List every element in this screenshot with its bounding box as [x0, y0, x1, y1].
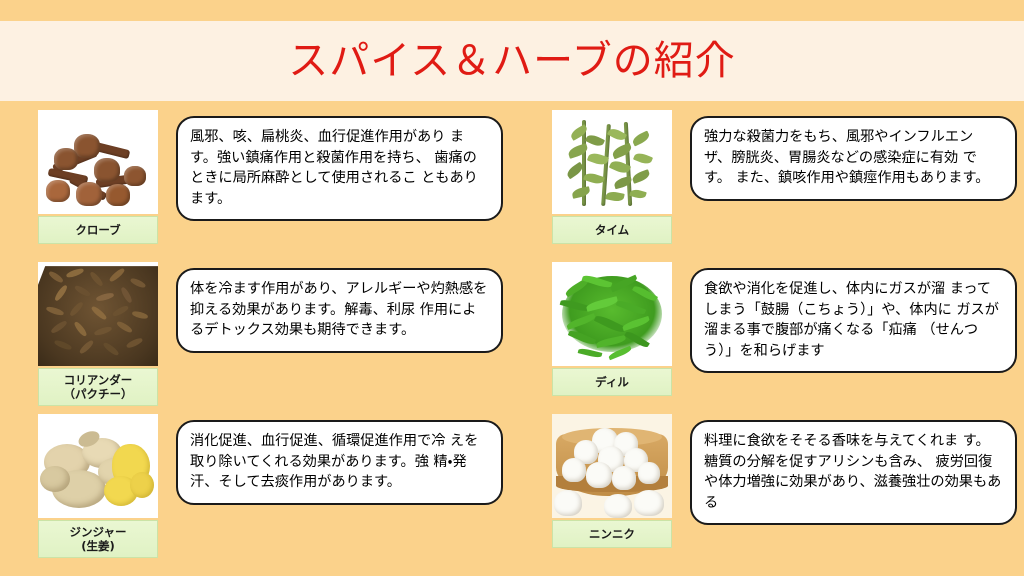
spice-card-thyme: タイム 強力な殺菌力をもち、風邪やインフルエン ザ、膀胱炎、胃腸炎などの感染症に… [514, 110, 1024, 262]
spice-card-garlic: ニンニク 料理に食欲をそそる香味を与えてくれま す。糖質の分解を促すアリシンも含… [514, 414, 1024, 566]
coriander-photo [38, 262, 158, 366]
spice-card-ginger: ジンジャー (生姜) 消化促進、血行促進、循環促進作用で冷 えを取り除いてくれる… [0, 414, 510, 566]
spice-label-garlic: ニンニク [552, 520, 672, 548]
spice-label-line1: タイム [595, 223, 629, 237]
spice-label-line1: クローブ [75, 223, 120, 237]
ginger-photo [38, 414, 158, 518]
spice-label-line2: （パクチー） [64, 387, 133, 401]
spice-label-clove: クローブ [38, 216, 158, 244]
spice-label-line2: (生姜) [81, 539, 115, 553]
spice-label-coriander: コリアンダー （パクチー） [38, 368, 158, 406]
spice-media: ディル [552, 262, 672, 396]
spice-card-clove: クローブ 風邪、咳、扁桃炎、血行促進作用があり ます。強い鎮痛作用と殺菌作用を持… [0, 110, 510, 262]
spice-media: ニンニク [552, 414, 672, 548]
title-band: スパイス＆ハーブの紹介 [0, 21, 1024, 101]
spice-media: コリアンダー （パクチー） [38, 262, 158, 406]
spice-label-ginger: ジンジャー (生姜) [38, 520, 158, 558]
spice-label-line1: ニンニク [589, 527, 635, 541]
spice-media: タイム [552, 110, 672, 244]
spice-description-ginger: 消化促進、血行促進、循環促進作用で冷 えを取り除いてくれる効果があります。強 精… [176, 420, 503, 505]
page-title: スパイス＆ハーブの紹介 [288, 41, 735, 81]
spice-description-dill: 食欲や消化を促進し、体内にガスが溜 まってしまう「鼓腸（こちょう）」や、体内に … [690, 268, 1017, 373]
spice-card-dill: ディル 食欲や消化を促進し、体内にガスが溜 まってしまう「鼓腸（こちょう）」や、… [514, 262, 1024, 414]
spice-card-coriander: コリアンダー （パクチー） 体を冷ます作用があり、アレルギーや灼熱感を抑える効果… [0, 262, 510, 414]
dill-photo [552, 262, 672, 366]
spice-label-line1: ジンジャー [70, 525, 127, 539]
spice-description-coriander: 体を冷ます作用があり、アレルギーや灼熱感を抑える効果があります。解毒、利尿 作用… [176, 268, 503, 353]
thyme-photo [552, 110, 672, 214]
spice-description-clove: 風邪、咳、扁桃炎、血行促進作用があり ます。強い鎮痛作用と殺菌作用を持ち、 歯痛… [176, 116, 503, 221]
spice-description-thyme: 強力な殺菌力をもち、風邪やインフルエン ザ、膀胱炎、胃腸炎などの感染症に有効 で… [690, 116, 1017, 201]
spice-media: クローブ [38, 110, 158, 244]
spice-media: ジンジャー (生姜) [38, 414, 158, 558]
clove-photo [38, 110, 158, 214]
spice-label-line1: コリアンダー [64, 373, 133, 387]
spice-label-dill: ディル [552, 368, 672, 396]
garlic-photo [552, 414, 672, 518]
spice-label-thyme: タイム [552, 216, 672, 244]
spice-description-garlic: 料理に食欲をそそる香味を与えてくれま す。糖質の分解を促すアリシンも含み、 疲労… [690, 420, 1017, 525]
spice-label-line1: ディル [595, 375, 629, 389]
spice-grid: クローブ 風邪、咳、扁桃炎、血行促進作用があり ます。強い鎮痛作用と殺菌作用を持… [0, 110, 1024, 576]
